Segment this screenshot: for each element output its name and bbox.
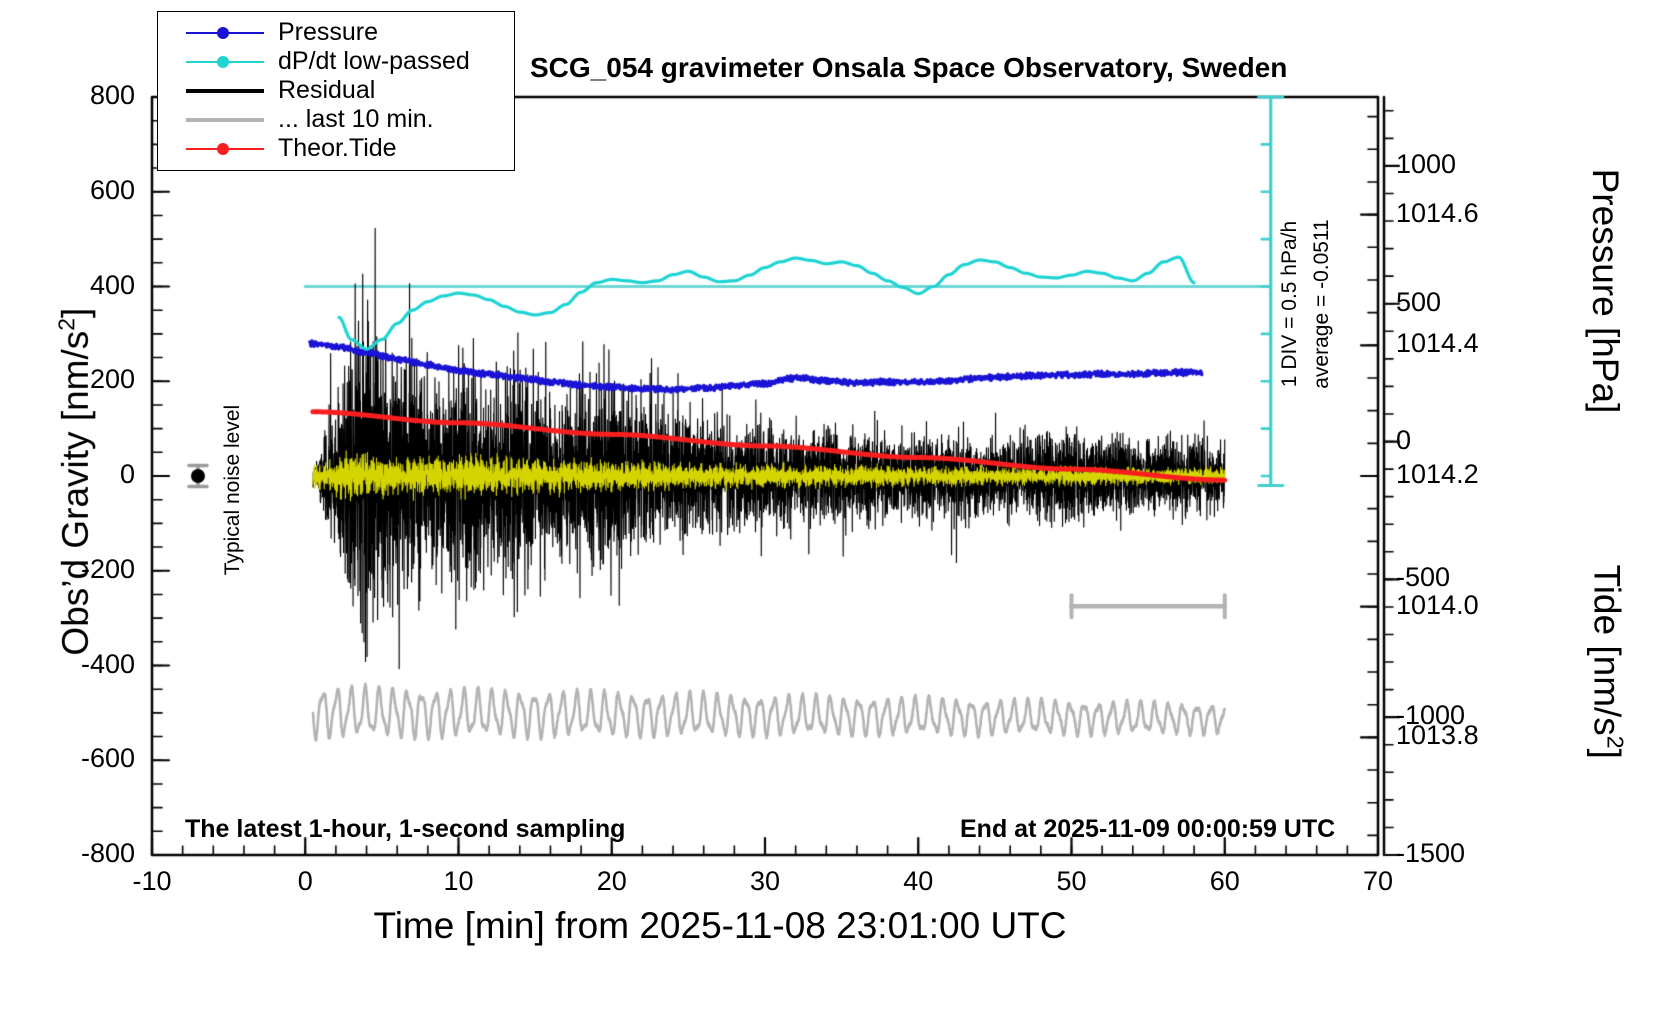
x-tick: 20 <box>567 866 657 897</box>
y-tick-gravity: 600 <box>45 175 135 206</box>
legend-swatch-icon <box>186 23 264 43</box>
legend-swatch-icon <box>186 139 264 159</box>
y-tick-gravity: 0 <box>45 459 135 490</box>
legend-item-pressure: Pressure <box>158 18 514 47</box>
x-tick: 60 <box>1180 866 1270 897</box>
y-axis-title-tide: Tide [nm/s2] <box>1585 487 1628 837</box>
x-tick: 40 <box>873 866 963 897</box>
legend-item-label: Residual <box>278 76 375 105</box>
dpdt-scale-div-label: 1 DIV = 0.5 hPa/h <box>1278 204 1302 404</box>
x-tick: 10 <box>414 866 504 897</box>
y-tick-pressure: 1014.4 <box>1396 328 1526 359</box>
y-tick-gravity: 400 <box>45 270 135 301</box>
y-tick-tide: -500 <box>1396 562 1526 593</box>
x-tick: -10 <box>107 866 197 897</box>
legend-swatch-icon <box>186 52 264 72</box>
x-tick: 30 <box>720 866 810 897</box>
legend-item-label: Theor.Tide <box>278 134 397 163</box>
legend-item-theor-tide: Theor.Tide <box>158 134 514 163</box>
y-tick-pressure: 1014.0 <box>1396 590 1526 621</box>
footer-end-time: End at 2025-11-09 00:00:59 UTC <box>960 815 1335 844</box>
y-tick-pressure: 1014.2 <box>1396 459 1526 490</box>
y-tick-gravity: -200 <box>45 554 135 585</box>
legend-item-label: Pressure <box>278 18 378 47</box>
x-axis-title: Time [min] from 2025-11-08 23:01:00 UTC <box>0 905 1440 947</box>
x-tick: 0 <box>260 866 350 897</box>
dpdt-scale-average-label: average = -0.0511 <box>1310 204 1334 404</box>
chart-title: SCG_054 gravimeter Onsala Space Observat… <box>530 52 1287 84</box>
legend-item-dp-dt-low-passed: dP/dt low-passed <box>158 47 514 76</box>
y-tick-gravity: -400 <box>45 649 135 680</box>
legend-swatch-icon <box>186 81 264 101</box>
typical-noise-level-label: Typical noise level <box>221 370 245 610</box>
footer-sampling-note: The latest 1-hour, 1-second sampling <box>185 815 625 844</box>
y-tick-gravity: 800 <box>45 80 135 111</box>
x-tick: 70 <box>1333 866 1423 897</box>
y-tick-gravity: -600 <box>45 743 135 774</box>
y-tick-tide: 1000 <box>1396 149 1526 180</box>
legend-item-label: ... last 10 min. <box>278 105 434 134</box>
y-axis-title-pressure: Pressure [hPa] <box>1584 81 1626 501</box>
y-tick-tide: -1000 <box>1396 700 1526 731</box>
y-tick-tide: -1500 <box>1396 838 1526 869</box>
y-tick-pressure: 1014.6 <box>1396 198 1526 229</box>
legend-item-last-10-min: ... last 10 min. <box>158 105 514 134</box>
x-tick: 50 <box>1027 866 1117 897</box>
chart-legend: PressuredP/dt low-passedResidual... last… <box>157 11 515 171</box>
legend-item-label: dP/dt low-passed <box>278 47 470 76</box>
y-tick-tide: 0 <box>1396 425 1526 456</box>
y-tick-tide: 500 <box>1396 287 1526 318</box>
legend-item-residual: Residual <box>158 76 514 105</box>
y-tick-gravity: 200 <box>45 364 135 395</box>
legend-swatch-icon <box>186 110 264 130</box>
y-tick-gravity: -800 <box>45 838 135 869</box>
